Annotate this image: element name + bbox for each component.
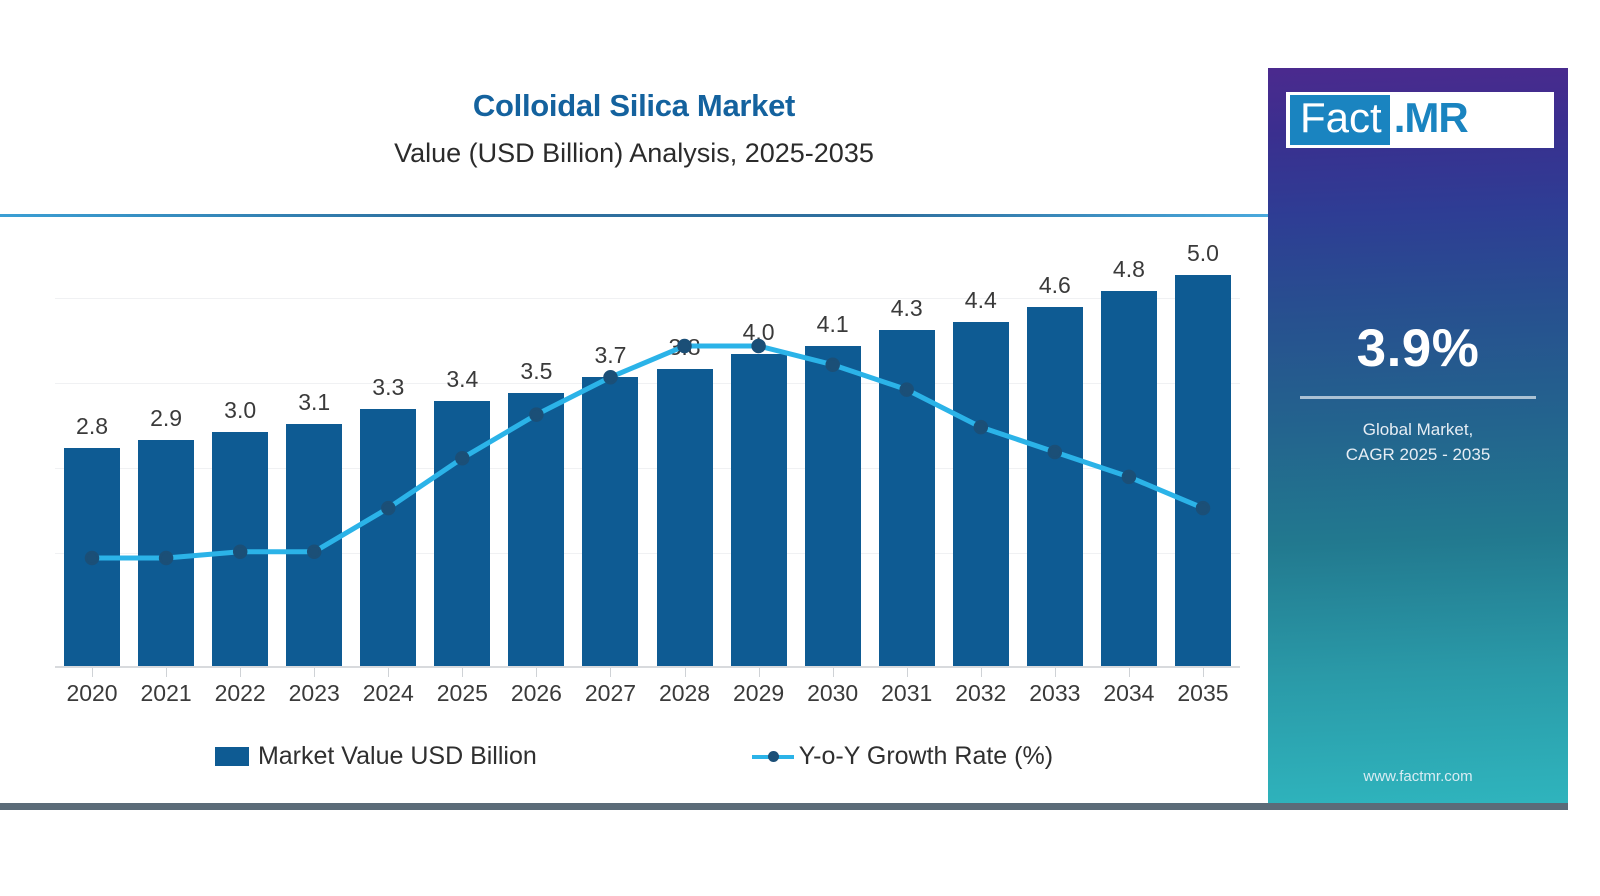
website-url: www.factmr.com	[1268, 768, 1568, 785]
x-tick	[1129, 668, 1130, 677]
bar-slot[interactable]: 4.8	[1092, 228, 1166, 668]
bar-value-label: 4.3	[870, 295, 944, 322]
bar-value-label: 4.6	[1018, 272, 1092, 299]
legend-item-bar[interactable]: Market Value USD Billion	[215, 742, 537, 771]
x-axis-label: 2023	[277, 680, 351, 707]
x-axis-label: 2035	[1166, 680, 1240, 707]
x-axis-label: 2022	[203, 680, 277, 707]
bar-value-label: 4.4	[944, 287, 1018, 314]
bar-slot[interactable]: 4.0	[722, 228, 796, 668]
bar-slot[interactable]: 3.0	[203, 228, 277, 668]
bar[interactable]	[64, 448, 120, 668]
bar-slot[interactable]: 3.3	[351, 228, 425, 668]
bar[interactable]	[1175, 275, 1231, 668]
bar-value-label: 3.3	[351, 374, 425, 401]
cagr-caption: Global Market,CAGR 2025 - 2035	[1268, 418, 1568, 467]
x-axis-label: 2031	[870, 680, 944, 707]
bar[interactable]	[582, 377, 638, 668]
x-axis-label: 2027	[573, 680, 647, 707]
x-tick	[685, 668, 686, 677]
bar-value-label: 3.7	[573, 342, 647, 369]
bar-slot[interactable]: 3.5	[499, 228, 573, 668]
bar[interactable]	[434, 401, 490, 668]
x-tick	[759, 668, 760, 677]
bar-slot[interactable]: 3.8	[648, 228, 722, 668]
x-tick	[1055, 668, 1056, 677]
bar-value-label: 4.1	[796, 311, 870, 338]
x-tick	[462, 668, 463, 677]
title-block: Colloidal Silica Market Value (USD Billi…	[0, 68, 1268, 169]
bar-value-label: 3.1	[277, 389, 351, 416]
x-axis-label: 2020	[55, 680, 129, 707]
x-tick	[240, 668, 241, 677]
cagr-divider	[1300, 396, 1536, 399]
x-axis-label: 2034	[1092, 680, 1166, 707]
bar[interactable]	[138, 440, 194, 668]
page-subtitle: Value (USD Billion) Analysis, 2025-2035	[0, 124, 1268, 169]
line-marker-icon	[752, 746, 794, 766]
bar[interactable]	[212, 432, 268, 668]
x-tick	[388, 668, 389, 677]
bar-value-label: 4.0	[722, 319, 796, 346]
bar[interactable]	[1027, 307, 1083, 668]
x-tick	[981, 668, 982, 677]
logo-mr-text: .MR	[1390, 97, 1468, 143]
factmr-logo[interactable]: Fact .MR	[1286, 92, 1554, 148]
bar-slot[interactable]: 3.7	[573, 228, 647, 668]
page-title: Colloidal Silica Market	[0, 68, 1268, 124]
logo-fact-text: Fact	[1290, 95, 1390, 145]
bar-value-label: 4.8	[1092, 256, 1166, 283]
bar[interactable]	[508, 393, 564, 668]
bar[interactable]	[879, 330, 935, 668]
legend-label-line: Y-o-Y Growth Rate (%)	[799, 742, 1053, 771]
x-tick	[314, 668, 315, 677]
bar-slot[interactable]: 2.9	[129, 228, 203, 668]
bar-slot[interactable]: 4.6	[1018, 228, 1092, 668]
side-panel: Fact .MR 3.9% Global Market,CAGR 2025 - …	[1268, 68, 1568, 803]
x-axis-label: 2025	[425, 680, 499, 707]
bar-swatch-icon	[215, 747, 249, 766]
x-tick	[166, 668, 167, 677]
x-axis-label: 2032	[944, 680, 1018, 707]
x-tick	[1203, 668, 1204, 677]
plot-area: 2.82.93.03.13.33.43.53.73.84.04.14.34.44…	[55, 228, 1240, 668]
legend-label-bar: Market Value USD Billion	[258, 742, 537, 771]
cagr-value: 3.9%	[1268, 318, 1568, 379]
legend-item-line[interactable]: Y-o-Y Growth Rate (%)	[752, 742, 1053, 771]
header-divider	[0, 214, 1268, 217]
x-tick	[907, 668, 908, 677]
x-tick	[536, 668, 537, 677]
x-tick	[833, 668, 834, 677]
bar[interactable]	[286, 424, 342, 668]
bar[interactable]	[953, 322, 1009, 668]
bar-slot[interactable]: 4.1	[796, 228, 870, 668]
bar-slot[interactable]: 2.8	[55, 228, 129, 668]
bar-slot[interactable]: 4.4	[944, 228, 1018, 668]
x-axis-label: 2033	[1018, 680, 1092, 707]
bar-value-label: 3.0	[203, 397, 277, 424]
x-tick	[92, 668, 93, 677]
bar-slot[interactable]: 3.1	[277, 228, 351, 668]
x-axis-label: 2024	[351, 680, 425, 707]
chart-card: Colloidal Silica Market Value (USD Billi…	[0, 68, 1568, 810]
x-axis-label: 2029	[722, 680, 796, 707]
bar[interactable]	[731, 354, 787, 668]
bar-value-label: 3.4	[425, 366, 499, 393]
bar-slot[interactable]: 5.0	[1166, 228, 1240, 668]
chart-pane: Colloidal Silica Market Value (USD Billi…	[0, 68, 1268, 803]
bar-value-label: 2.8	[55, 413, 129, 440]
bar[interactable]	[360, 409, 416, 668]
x-axis-label: 2030	[796, 680, 870, 707]
x-axis	[55, 666, 1240, 668]
bar[interactable]	[1101, 291, 1157, 668]
cagr-caption-line: Global Market,	[1268, 418, 1568, 443]
bar-slot[interactable]: 3.4	[425, 228, 499, 668]
x-axis-label: 2026	[499, 680, 573, 707]
bar-value-label: 3.5	[499, 358, 573, 385]
bar-series: 2.82.93.03.13.33.43.53.73.84.04.14.34.44…	[55, 228, 1240, 668]
bar-value-label: 2.9	[129, 405, 203, 432]
bar[interactable]	[805, 346, 861, 668]
bar-value-label: 5.0	[1166, 240, 1240, 267]
chart-legend: Market Value USD Billion Y-o-Y Growth Ra…	[0, 733, 1268, 779]
x-axis-label: 2021	[129, 680, 203, 707]
bar-value-label: 3.8	[648, 334, 722, 361]
bar[interactable]	[657, 369, 713, 668]
cagr-caption-line: CAGR 2025 - 2035	[1268, 443, 1568, 468]
x-axis-label: 2028	[648, 680, 722, 707]
x-tick	[610, 668, 611, 677]
chart-infographic: Colloidal Silica Market Value (USD Billi…	[0, 0, 1600, 896]
bar-slot[interactable]: 4.3	[870, 228, 944, 668]
